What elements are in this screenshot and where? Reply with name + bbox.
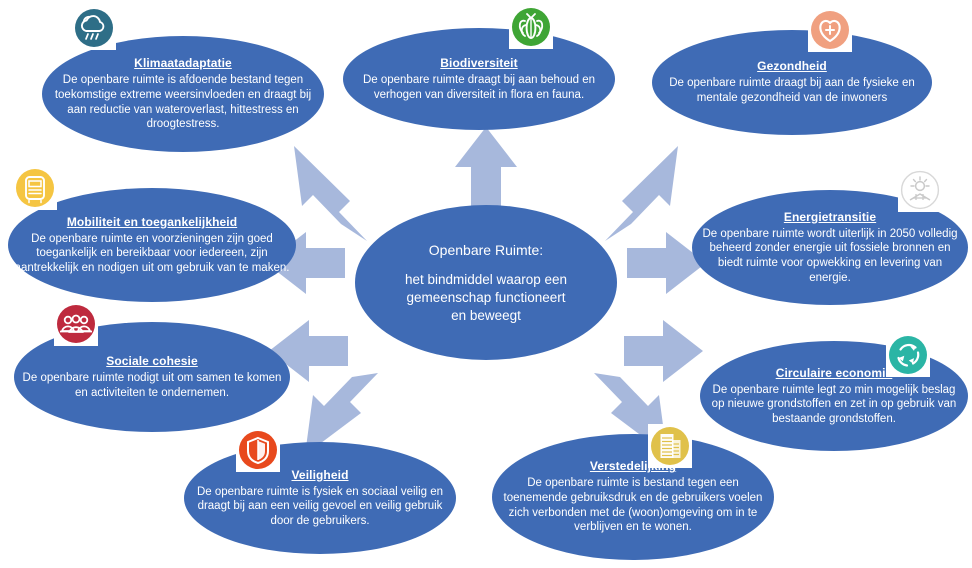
icon-tile-circulaire-economie <box>886 333 930 377</box>
sun-energy-icon <box>899 169 941 211</box>
arrow-up-biodiversiteit <box>455 127 517 208</box>
node-body: De openbare ruimte draagt bij aan behoud… <box>343 73 615 102</box>
center-node[interactable]: Openbare Ruimte: het bindmiddel waarop e… <box>355 205 617 360</box>
node-title: Energietransitie <box>784 210 876 224</box>
node-body: De openbare ruimte is fysiek en sociaal … <box>184 485 456 529</box>
arrow-upright-gezondheid <box>605 146 678 241</box>
node-body: De openbare ruimte en voorzieningen zijn… <box>8 232 296 276</box>
node-klimaatadaptatie[interactable]: Klimaatadaptatie De openbare ruimte is a… <box>42 36 324 152</box>
icon-tile-gezondheid <box>808 8 852 52</box>
cloud-rain-icon <box>73 7 115 49</box>
center-line-3: gemeenschap functioneert <box>405 289 567 307</box>
icon-tile-klimaatadaptatie <box>72 6 116 50</box>
icon-tile-verstedelijking <box>648 424 692 468</box>
node-body: De openbare ruimte wordt uiterlijk in 20… <box>692 227 968 285</box>
shield-icon <box>237 429 279 471</box>
center-line-2: het bindmiddel waarop een <box>405 271 567 289</box>
bus-icon <box>14 167 56 209</box>
node-title: Veiligheid <box>291 468 348 482</box>
heart-health-icon <box>809 9 851 51</box>
node-gezondheid[interactable]: Gezondheid De openbare ruimte draagt bij… <box>652 30 932 135</box>
recycle-icon <box>887 334 929 376</box>
node-body: De openbare ruimte draagt bij aan de fys… <box>652 76 932 105</box>
node-body: De openbare ruimte is afdoende bestand t… <box>42 73 324 131</box>
center-heading: Openbare Ruimte: <box>429 241 543 259</box>
buildings-icon <box>649 425 691 467</box>
node-body: De openbare ruimte legt zo min mogelijk … <box>700 383 968 427</box>
center-line-4: en beweegt <box>405 307 567 325</box>
node-title: Circulaire economie <box>776 366 893 380</box>
people-group-icon <box>55 303 97 345</box>
diagram-canvas: Klimaatadaptatie De openbare ruimte is a… <box>0 0 972 568</box>
arrow-right-circulaire-economie <box>624 320 703 382</box>
insect-icon <box>510 6 552 48</box>
arrow-upleft-klimaatadaptatie <box>294 146 367 241</box>
node-veiligheid[interactable]: Veiligheid De openbare ruimte is fysiek … <box>184 442 456 554</box>
node-title: Sociale cohesie <box>106 354 198 368</box>
node-title: Gezondheid <box>757 59 827 73</box>
node-title: Biodiversiteit <box>440 56 517 70</box>
node-verstedelijking[interactable]: Verstedelijking De openbare ruimte is be… <box>492 434 774 560</box>
node-body: De openbare ruimte is bestand tegen een … <box>492 476 774 534</box>
icon-tile-mobiliteit <box>13 166 57 210</box>
icon-tile-sociale-cohesie <box>54 302 98 346</box>
icon-tile-biodiversiteit <box>509 5 553 49</box>
node-title: Klimaatadaptatie <box>134 56 232 70</box>
node-body: De openbare ruimte nodigt uit om samen t… <box>14 371 290 400</box>
icon-tile-energietransitie <box>898 168 942 212</box>
icon-tile-veiligheid <box>236 428 280 472</box>
node-biodiversiteit[interactable]: Biodiversiteit De openbare ruimte draagt… <box>343 28 615 130</box>
node-title: Mobiliteit en toegankelijkheid <box>67 215 237 229</box>
